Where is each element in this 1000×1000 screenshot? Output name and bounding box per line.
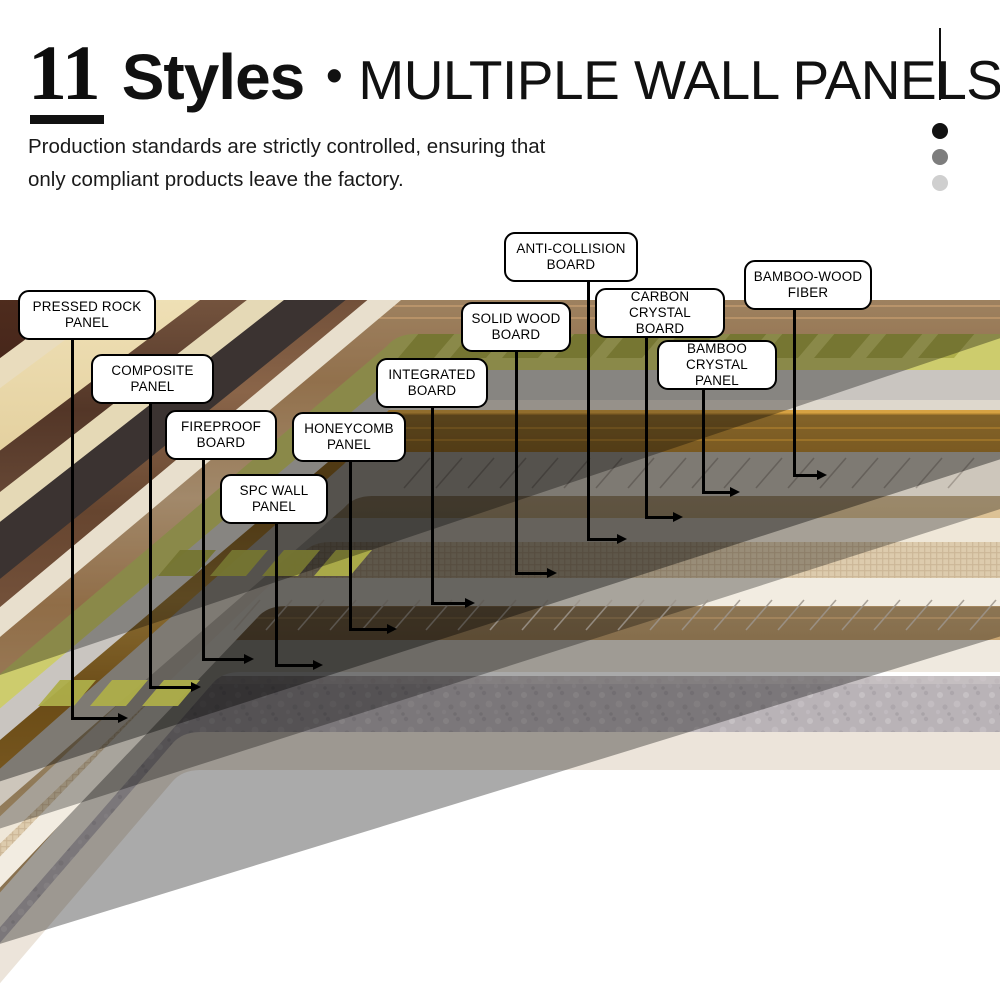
callout-line1: INTEGRATED xyxy=(388,367,475,383)
callout-line1: ANTI-COLLISION xyxy=(516,241,625,257)
callout-line1: PRESSED ROCK xyxy=(33,299,142,315)
leader-bamboo-wood-v xyxy=(793,310,796,476)
callout-line1: FIREPROOF xyxy=(181,419,261,435)
arrow-solid-wood-icon xyxy=(547,568,557,578)
leader-integrated-v xyxy=(431,408,434,604)
leader-integrated-h xyxy=(431,602,467,605)
count-underline xyxy=(30,115,104,124)
arrow-carbon-crystal-icon xyxy=(673,512,683,522)
callout-line1: COMPOSITE xyxy=(111,363,193,379)
leader-carbon-crystal-h xyxy=(645,516,675,519)
callout-line2: BOARD xyxy=(471,327,560,343)
callout-carbon-crystal-board[interactable]: CARBON CRYSTAL BOARD xyxy=(595,288,725,338)
styles-word: Styles xyxy=(122,45,305,109)
bullet-separator-icon: • xyxy=(326,52,342,98)
dot-light-icon xyxy=(932,175,948,191)
arrow-bamboo-wood-icon xyxy=(817,470,827,480)
poster-canvas: 11 Styles • MULTIPLE WALL PANELS Product… xyxy=(0,0,1000,1000)
callout-fireproof-board[interactable]: FIREPROOF BOARD xyxy=(165,410,277,460)
callout-spc-wall-panel[interactable]: SPC WALL PANEL xyxy=(220,474,328,524)
leader-carbon-crystal-v xyxy=(645,338,648,518)
callout-line1: BAMBOO-WOOD xyxy=(754,269,863,285)
callout-line2: PANEL xyxy=(240,499,309,515)
leader-spc-h xyxy=(275,664,315,667)
arrow-fireproof-icon xyxy=(244,654,254,664)
leader-solid-wood-h xyxy=(515,572,549,575)
dot-medium-icon xyxy=(932,149,948,165)
arrow-honeycomb-icon xyxy=(387,624,397,634)
leader-anti-collision-v xyxy=(587,282,590,540)
description: Production standards are strictly contro… xyxy=(28,130,545,196)
description-line-2: only compliant products leave the factor… xyxy=(28,163,545,196)
leader-honeycomb-h xyxy=(349,628,389,631)
arrow-anti-collision-icon xyxy=(617,534,627,544)
callout-line1: BAMBOO xyxy=(664,341,770,357)
arrow-pressed-rock-icon xyxy=(118,713,128,723)
callout-line2: BOARD xyxy=(602,321,718,337)
leader-bamboo-wood-h xyxy=(793,474,819,477)
callout-bamboo-wood-fiber[interactable]: BAMBOO-WOOD FIBER xyxy=(744,260,872,310)
callout-integrated-board[interactable]: INTEGRATED BOARD xyxy=(376,358,488,408)
leader-fireproof-h xyxy=(202,658,246,661)
callout-bamboo-crystal-panel[interactable]: BAMBOO CRYSTAL PANEL xyxy=(657,340,777,390)
callout-line2: BOARD xyxy=(388,383,475,399)
leader-fireproof-v xyxy=(202,460,205,660)
callout-solid-wood-board[interactable]: SOLID WOOD BOARD xyxy=(461,302,571,352)
leader-anti-collision-h xyxy=(587,538,619,541)
callout-line2: BOARD xyxy=(516,257,625,273)
arrow-spc-icon xyxy=(313,660,323,670)
headline: 11 Styles • MULTIPLE WALL PANELS xyxy=(28,38,1000,112)
callout-line2: PANEL xyxy=(304,437,394,453)
leader-composite-v xyxy=(149,404,152,688)
decorative-dots-group xyxy=(927,28,953,188)
headline-tail: MULTIPLE WALL PANELS xyxy=(358,53,1000,108)
style-count: 11 xyxy=(28,38,100,112)
leader-bamboo-crystal-v xyxy=(702,390,705,493)
callout-line1: CARBON CRYSTAL xyxy=(602,289,718,321)
callout-line2: PANEL xyxy=(111,379,193,395)
callout-composite-panel[interactable]: COMPOSITE PANEL xyxy=(91,354,214,404)
description-line-1: Production standards are strictly contro… xyxy=(28,130,545,163)
callout-line2: FIBER xyxy=(754,285,863,301)
leader-pressed-rock-v xyxy=(71,340,74,719)
style-count-value: 11 xyxy=(28,29,100,116)
leader-solid-wood-v xyxy=(515,352,518,574)
callout-line1: HONEYCOMB xyxy=(304,421,394,437)
callout-line2: BOARD xyxy=(181,435,261,451)
leader-bamboo-crystal-h xyxy=(702,491,732,494)
leader-pressed-rock-h xyxy=(71,717,120,720)
dot-dark-icon xyxy=(932,123,948,139)
vertical-rule-icon xyxy=(939,28,941,100)
callout-honeycomb-panel[interactable]: HONEYCOMB PANEL xyxy=(292,412,406,462)
callout-line1: SPC WALL xyxy=(240,483,309,499)
leader-spc-v xyxy=(275,524,278,666)
arrow-bamboo-crystal-icon xyxy=(730,487,740,497)
callout-line2: CRYSTAL PANEL xyxy=(664,357,770,389)
callout-pressed-rock-panel[interactable]: PRESSED ROCK PANEL xyxy=(18,290,156,340)
leader-composite-h xyxy=(149,686,193,689)
callout-anti-collision-board[interactable]: ANTI-COLLISION BOARD xyxy=(504,232,638,282)
leader-honeycomb-v xyxy=(349,462,352,630)
callout-line1: SOLID WOOD xyxy=(471,311,560,327)
arrow-composite-icon xyxy=(191,682,201,692)
header: 11 Styles • MULTIPLE WALL PANELS Product… xyxy=(0,0,1000,215)
callout-line2: PANEL xyxy=(33,315,142,331)
arrow-integrated-icon xyxy=(465,598,475,608)
